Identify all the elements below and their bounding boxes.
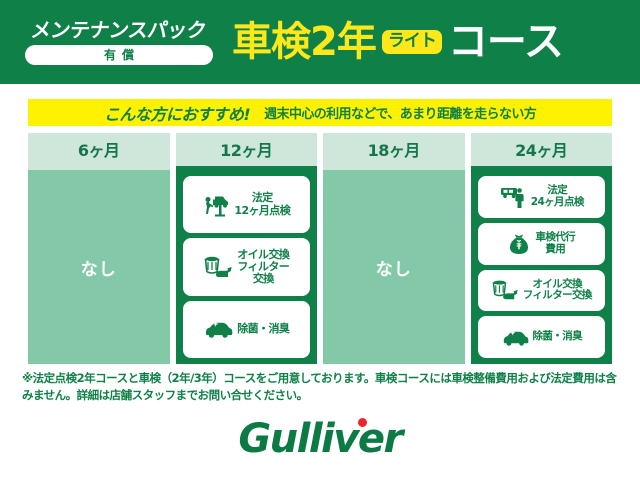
service-card-sanitize-deodorize-24m: 除菌・消臭 <box>478 316 606 358</box>
service-card-label: 除菌・消臭 <box>237 323 289 335</box>
recommend-banner: こんな方におすすめ! 週末中心の利用などで、あまり距離を走らない方 <box>28 99 612 126</box>
plan-column-6m: 6ヶ月 なし <box>28 133 170 364</box>
van-inspector-icon <box>499 185 527 209</box>
service-card-legal-24m-inspection: 法定 24ヶ月点検 <box>478 176 606 218</box>
brand-logo: Gulliver <box>0 416 640 462</box>
money-bag-yen-icon <box>507 232 531 256</box>
pack-title-block: メンテナンスパック 有償 <box>16 20 222 65</box>
plan-column-18m: 18ヶ月 なし <box>323 133 465 364</box>
course-main-title: 車検2年 <box>232 22 376 62</box>
pack-title: メンテナンスパック <box>30 20 208 40</box>
course-title-block: 車検2年 ライト コース <box>232 22 563 62</box>
plan-table: 6ヶ月 なし 12ヶ月 <box>28 133 612 364</box>
none-label-18m: なし <box>376 255 412 280</box>
service-card-inspection-agency-fee-24m: 車検代行 費用 <box>478 223 606 265</box>
column-body-12m: 法定 12ヶ月点検 オイル交換 フィルター 交換 <box>176 170 318 364</box>
service-card-label: 車検代行 費用 <box>535 232 575 256</box>
recommend-lead-text: こんな方におすすめ! <box>104 101 250 125</box>
service-card-label: オイル交換 フィルター交換 <box>523 279 592 303</box>
column-body-6m: なし <box>28 170 170 364</box>
brand-logo-text: Gulliver <box>238 416 401 462</box>
column-header-12m: 12ヶ月 <box>176 133 318 170</box>
service-card-label: オイル交換 フィルター 交換 <box>237 249 289 286</box>
plan-column-12m: 12ヶ月 <box>176 133 318 364</box>
service-card-sanitize-deodorize-12m: 除菌・消臭 <box>183 301 311 358</box>
car-sparkle-icon <box>501 329 529 346</box>
column-body-18m: なし <box>323 170 465 364</box>
service-card-label: 除菌・消臭 <box>533 331 583 343</box>
car-on-lift-icon <box>202 192 230 218</box>
service-card-label: 法定 24ヶ月点検 <box>531 185 584 209</box>
service-card-label: 法定 12ヶ月点検 <box>234 192 290 217</box>
service-card-oil-filter-change-24m: オイル交換 フィルター交換 <box>478 270 606 312</box>
column-header-18m: 18ヶ月 <box>323 133 465 170</box>
plan-column-24m: 24ヶ月 法定 24ヶ月点検 <box>471 133 613 364</box>
maintenance-pack-poster: メンテナンスパック 有償 車検2年 ライト コース こんな方におすすめ! 週末中… <box>0 0 640 480</box>
oil-can-filter-icon <box>491 278 519 302</box>
pack-paid-badge: 有償 <box>25 45 213 65</box>
service-card-oil-filter-change-12m: オイル交換 フィルター 交換 <box>183 238 311 295</box>
course-suffix: コース <box>448 22 563 62</box>
course-light-tag: ライト <box>382 30 442 54</box>
car-sparkle-icon <box>203 320 233 338</box>
service-card-legal-12m-inspection: 法定 12ヶ月点検 <box>183 176 311 233</box>
header-band: メンテナンスパック 有償 車検2年 ライト コース <box>0 0 640 84</box>
column-header-6m: 6ヶ月 <box>28 133 170 170</box>
column-header-24m: 24ヶ月 <box>471 133 613 170</box>
recommend-sub-text: 週末中心の利用などで、あまり距離を走らない方 <box>264 103 536 122</box>
disclaimer-text: ※法定点検2年コースと車検（2年/3年）コースをご用意しております。車検コースに… <box>22 370 622 403</box>
oil-can-filter-icon <box>203 254 233 280</box>
none-label-6m: なし <box>81 255 117 280</box>
column-body-24m: 法定 24ヶ月点検 車検代行 費用 <box>471 170 613 364</box>
